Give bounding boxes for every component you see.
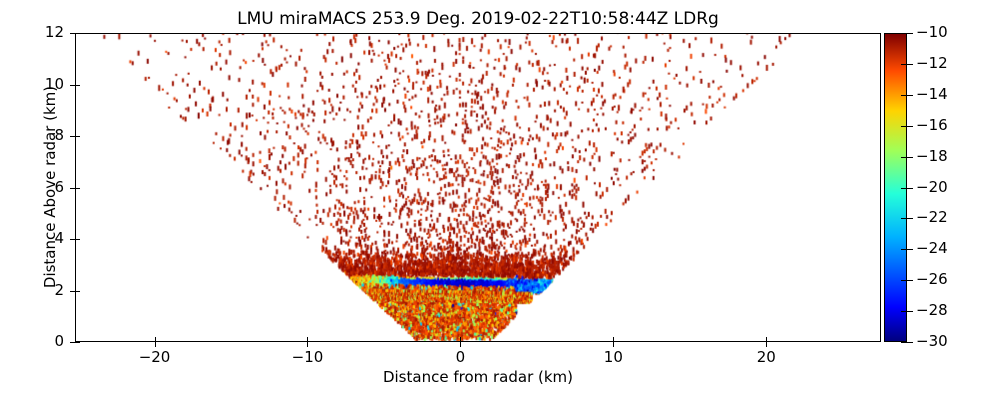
y-tick-inner <box>75 342 80 343</box>
colorbar-tick-label: −16 <box>916 117 948 134</box>
colorbar-tick <box>907 342 913 343</box>
colorbar-tick <box>907 126 913 127</box>
colorbar-tick-inner <box>901 188 907 189</box>
colorbar-tick-label: −30 <box>916 333 948 350</box>
colorbar-tick-label: −26 <box>916 271 948 288</box>
x-tick-label: −10 <box>267 349 347 366</box>
x-tick-inner <box>307 337 308 342</box>
colorbar-tick-inner <box>901 157 907 158</box>
colorbar-tick-inner <box>901 126 907 127</box>
colorbar-tick-inner <box>901 64 907 65</box>
x-tick <box>155 342 156 347</box>
x-tick <box>460 342 461 347</box>
colorbar-tick <box>907 157 913 158</box>
colorbar-tick-inner <box>901 280 907 281</box>
colorbar-tick-inner <box>901 249 907 250</box>
y-axis-label: Distance Above radar (km) <box>41 32 59 342</box>
colorbar-tick-inner <box>901 33 907 34</box>
colorbar-tick-label: −12 <box>916 55 948 72</box>
x-tick-label: 0 <box>420 349 500 366</box>
colorbar-tick-label: −22 <box>916 209 948 226</box>
colorbar-tick-label: −10 <box>916 24 948 41</box>
figure: LMU miraMACS 253.9 Deg. 2019-02-22T10:58… <box>0 0 1000 400</box>
colorbar-tick-label: −28 <box>916 302 948 319</box>
x-tick-inner <box>460 337 461 342</box>
colorbar-tick <box>907 249 913 250</box>
y-tick-inner <box>75 291 80 292</box>
colorbar-tick-inner <box>901 95 907 96</box>
colorbar-tick <box>907 280 913 281</box>
plot-area[interactable] <box>75 33 881 342</box>
y-tick-inner <box>75 136 80 137</box>
x-tick-label: 20 <box>726 349 806 366</box>
y-tick-inner <box>75 188 80 189</box>
colorbar-tick-label: −18 <box>916 148 948 165</box>
colorbar-tick <box>907 95 913 96</box>
x-tick <box>613 342 614 347</box>
radar-rhi-scatter-canvas <box>76 34 880 341</box>
x-tick-label: 10 <box>573 349 653 366</box>
colorbar-tick-inner <box>901 342 907 343</box>
colorbar-tick <box>907 188 913 189</box>
colorbar-tick <box>907 218 913 219</box>
colorbar-tick-label: −14 <box>916 86 948 103</box>
colorbar-tick <box>907 33 913 34</box>
colorbar-tick-label: −20 <box>916 179 948 196</box>
colorbar-tick <box>907 311 913 312</box>
x-tick-inner <box>766 337 767 342</box>
y-tick-inner <box>75 33 80 34</box>
x-tick-label: −20 <box>115 349 195 366</box>
colorbar-tick <box>907 64 913 65</box>
x-axis-label: Distance from radar (km) <box>75 368 881 386</box>
x-tick <box>307 342 308 347</box>
colorbar-tick-label: −24 <box>916 240 948 257</box>
x-tick-inner <box>613 337 614 342</box>
colorbar-tick-inner <box>901 311 907 312</box>
y-tick-inner <box>75 85 80 86</box>
x-tick-inner <box>155 337 156 342</box>
x-tick <box>766 342 767 347</box>
page-title: LMU miraMACS 253.9 Deg. 2019-02-22T10:58… <box>0 9 956 29</box>
colorbar-tick-inner <box>901 218 907 219</box>
y-tick-inner <box>75 239 80 240</box>
